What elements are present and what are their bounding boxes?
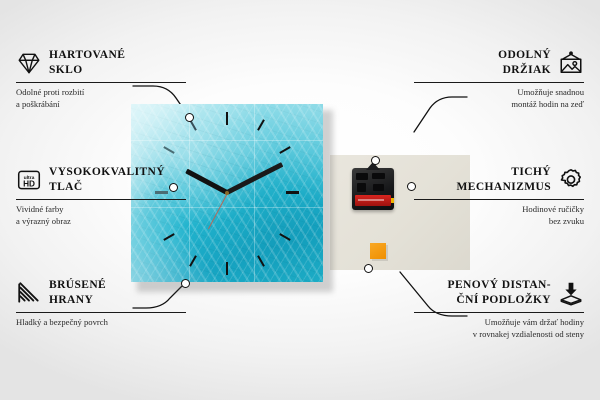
feature-foam-spacers: PENOVÝ DISTAN- ČNÍ PODLOŽKY Umožňuje vám… <box>414 278 584 341</box>
feature-hardened-glass: HARTOVANÉ SKLO Odolné proti rozbití a po… <box>16 48 186 111</box>
feature-high-quality-print: ultra HD VYSOKOKVALITNÝ TLAČ Vividné far… <box>16 165 186 228</box>
gear-icon <box>558 167 584 193</box>
divider <box>16 82 186 83</box>
feature-description: Umožňuje snadnou montáž hodin na zeď <box>414 87 584 111</box>
infographic-canvas: HARTOVANÉ SKLO Odolné proti rozbití a po… <box>0 0 600 400</box>
callout-node-left-1[interactable] <box>185 113 194 122</box>
divider <box>414 82 584 83</box>
feature-silent-mechanism: TICHÝ MECHANIZMUS Hodinové ručičky bez z… <box>414 165 584 228</box>
svg-text:HD: HD <box>23 180 35 189</box>
feature-title: ODOLNÝ DRŽIAK <box>498 48 551 78</box>
callout-node-right-1[interactable] <box>371 156 380 165</box>
feature-description: Odolné proti rozbití a poškrábání <box>16 87 186 111</box>
foam-spacer-pad <box>370 243 386 259</box>
feature-polished-edges: BRÚSENÉ HRANY Hladký a bezpečný povrch <box>16 278 186 329</box>
feature-title: VYSOKOKVALITNÝ TLAČ <box>49 165 165 195</box>
divider <box>16 199 186 200</box>
feature-description: Hladký a bezpečný povrch <box>16 317 186 329</box>
divider <box>414 199 584 200</box>
feature-title: HARTOVANÉ SKLO <box>49 48 125 78</box>
callout-node-right-3[interactable] <box>364 264 373 273</box>
diamond-icon <box>16 50 42 76</box>
brushed-edge-icon <box>16 280 42 306</box>
foam-spacer-icon <box>558 280 584 306</box>
clock-mechanism <box>352 168 394 210</box>
divider <box>16 312 186 313</box>
divider <box>414 312 584 313</box>
feature-description: Umožňuje vám držať hodiny v rovnakej vzd… <box>414 317 584 341</box>
feature-description: Hodinové ručičky bez zvuku <box>414 204 584 228</box>
battery <box>355 195 391 206</box>
feature-title: PENOVÝ DISTAN- ČNÍ PODLOŽKY <box>448 278 551 308</box>
feature-description: Vividné farby a výrazný obraz <box>16 204 186 228</box>
feature-durable-hanger: ODOLNÝ DRŽIAK Umožňuje snadnou montáž ho… <box>414 48 584 111</box>
picture-hanger-icon <box>558 50 584 76</box>
feature-title: TICHÝ MECHANIZMUS <box>457 165 552 195</box>
ultra-hd-icon: ultra HD <box>16 167 42 193</box>
feature-title: BRÚSENÉ HRANY <box>49 278 106 308</box>
